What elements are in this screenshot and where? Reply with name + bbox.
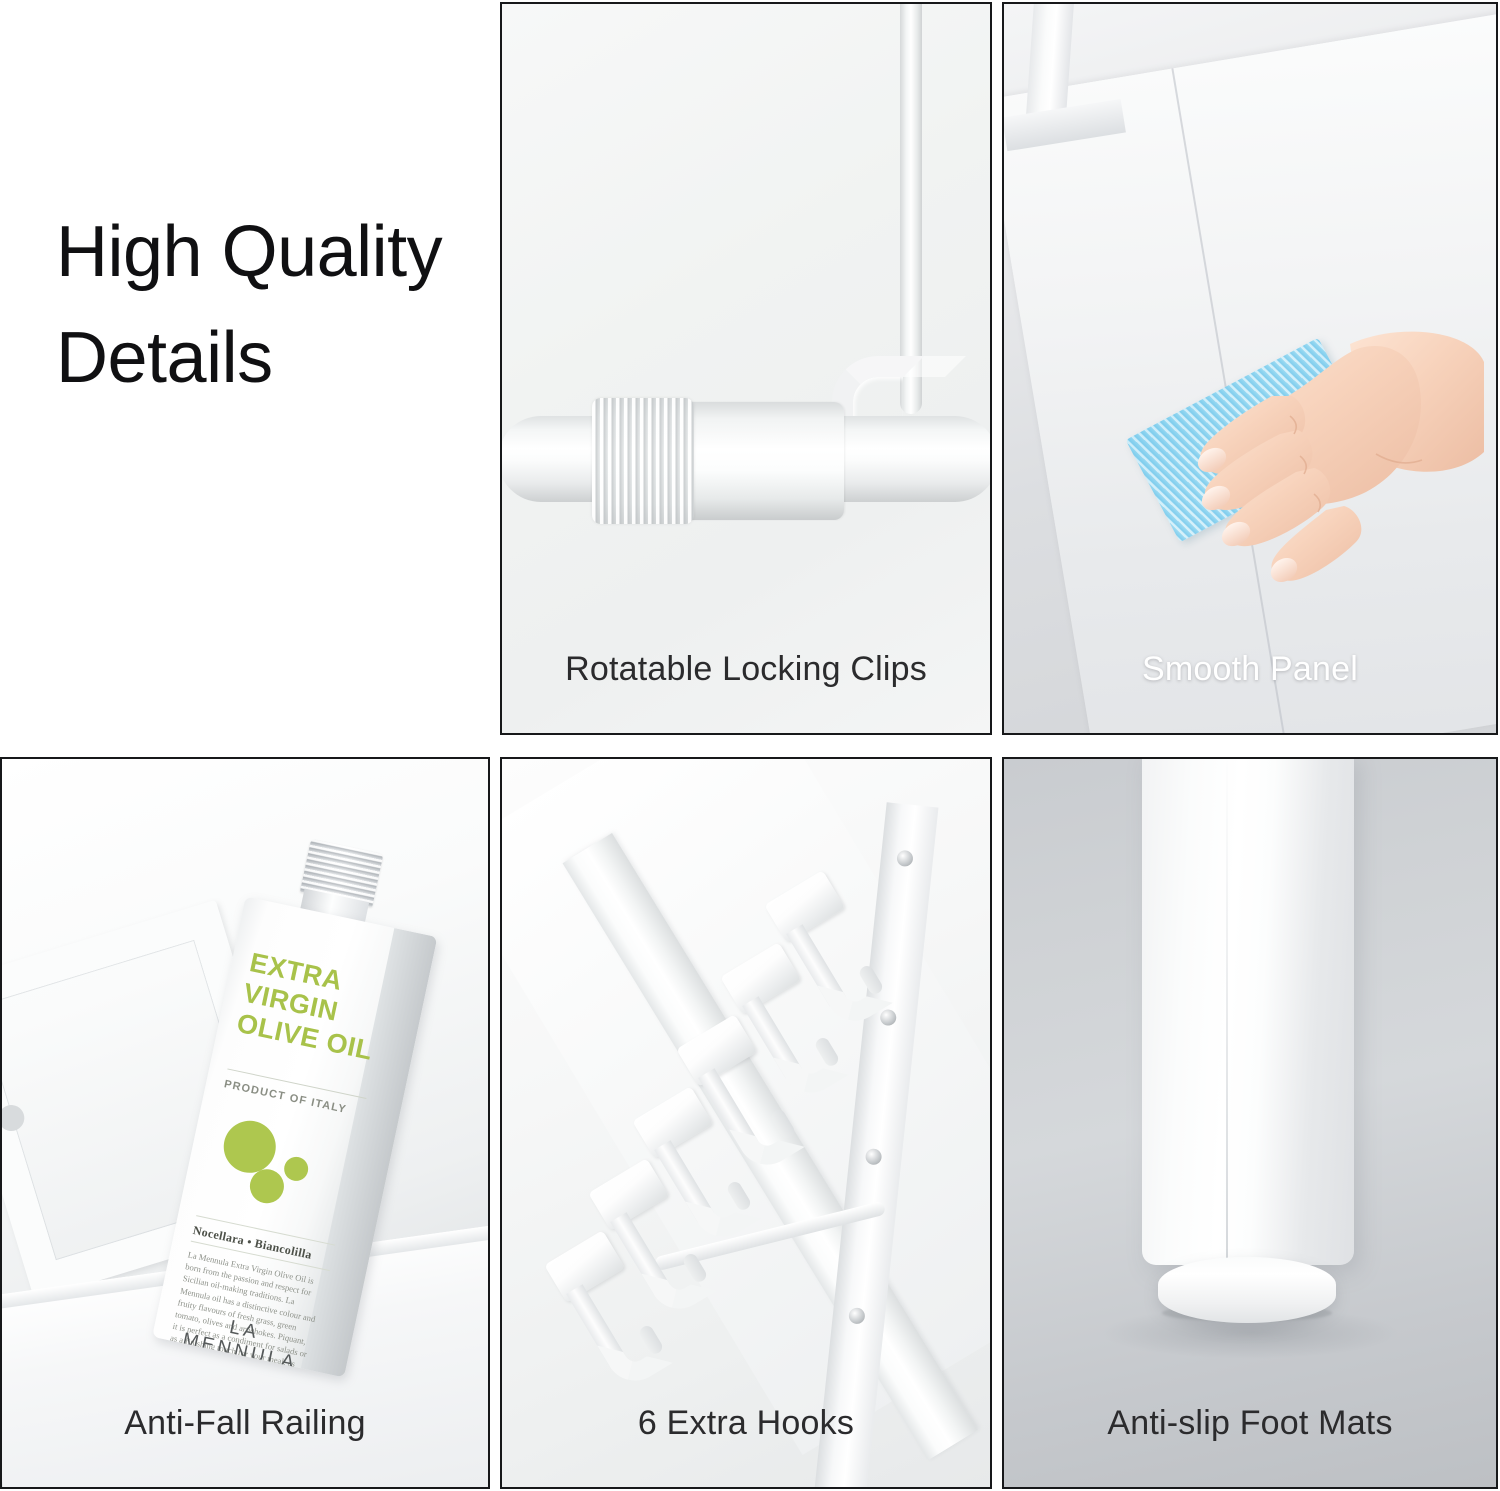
product-detail-infographic: High Quality Details Rotatable Locking C… bbox=[0, 0, 1500, 1491]
label-olive-dots-icon bbox=[202, 1108, 370, 1237]
screw-icon bbox=[879, 1009, 897, 1027]
panel-anti-slip-foot-mats: Anti-slip Foot Mats bbox=[1002, 757, 1498, 1489]
screw-icon bbox=[848, 1307, 866, 1325]
page-title-line-1: High Quality bbox=[56, 212, 442, 292]
panel-rotatable-locking-clips: Rotatable Locking Clips bbox=[500, 2, 992, 735]
knurled-locking-collar-icon bbox=[592, 398, 694, 524]
anti-slip-foot-pad bbox=[1158, 1257, 1336, 1323]
wiping-hand bbox=[1154, 304, 1484, 609]
vertical-riser-tube bbox=[900, 2, 922, 414]
page-title-line-2: Details bbox=[56, 306, 442, 412]
leg-corner-edge bbox=[1226, 757, 1228, 1265]
panel-six-extra-hooks: 6 Extra Hooks bbox=[500, 757, 992, 1489]
olive-dot-small bbox=[282, 1155, 310, 1183]
panel-caption-six-extra-hooks: 6 Extra Hooks bbox=[502, 1404, 990, 1443]
title-cell: High Quality Details bbox=[0, 0, 490, 745]
label-headline: EXTRA VIRGIN OLIVE OIL bbox=[234, 947, 390, 1066]
locking-sleeve bbox=[672, 402, 844, 520]
panel-caption-anti-slip-foot-mats: Anti-slip Foot Mats bbox=[1004, 1404, 1496, 1443]
panel-smooth-panel: Smooth Panel bbox=[1002, 2, 1498, 735]
square-shelf-leg bbox=[1142, 757, 1354, 1265]
panel-caption-anti-fall-railing: Anti-Fall Railing bbox=[2, 1404, 488, 1443]
page-title: High Quality Details bbox=[56, 200, 442, 412]
panel-anti-fall-railing: EXTRA VIRGIN OLIVE OIL PRODUCT OF ITALY … bbox=[0, 757, 490, 1489]
panel-caption-rotatable-locking-clips: Rotatable Locking Clips bbox=[502, 650, 990, 689]
screw-icon bbox=[896, 850, 914, 868]
panel-caption-smooth-panel: Smooth Panel bbox=[1004, 650, 1496, 689]
olive-dot-large bbox=[219, 1116, 281, 1178]
screw-icon bbox=[865, 1148, 883, 1166]
